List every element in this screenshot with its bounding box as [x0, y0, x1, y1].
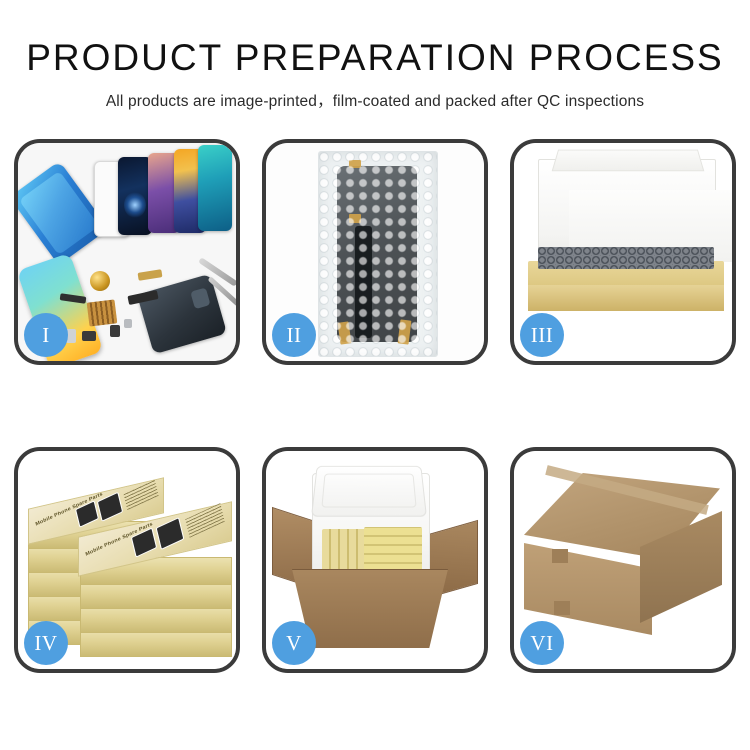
foam-lid-top-edge — [552, 150, 705, 172]
step-card-2[interactable]: II — [262, 139, 488, 365]
process-steps-grid: I II — [14, 139, 736, 673]
step-card-3[interactable]: III — [510, 139, 736, 365]
stacked-box-r3 — [80, 581, 232, 609]
kraft-tray-front — [528, 285, 724, 311]
box-text-lines-front — [185, 503, 225, 538]
page-header: PRODUCT PREPARATION PROCESS All products… — [0, 0, 750, 111]
step-card-6[interactable]: VI — [510, 447, 736, 673]
phone-screen-dark-icon — [118, 157, 152, 235]
step-card-1[interactable]: I — [14, 139, 240, 365]
small-part-icon-3 — [82, 331, 96, 341]
styrofoam-lid-icon — [311, 466, 427, 517]
small-part-icon-4 — [110, 325, 120, 337]
phone-screen-teal-icon — [198, 145, 232, 231]
step-badge-3: III — [520, 313, 564, 357]
page-title: PRODUCT PREPARATION PROCESS — [0, 36, 750, 80]
yellow-boxes-inside-2 — [364, 527, 422, 571]
small-part-icon-5 — [124, 319, 132, 328]
step-card-4[interactable]: Mobile Phone Spare Parts Mobile Phone Sp… — [14, 447, 240, 673]
wrapped-flex-cable-icon — [355, 226, 372, 338]
tape-icon-2 — [349, 214, 361, 223]
step-badge-6: VI — [520, 621, 564, 665]
carton-tape-patch-top — [552, 549, 568, 563]
flex-cable-icon-3 — [138, 269, 163, 281]
stacked-box-r5 — [80, 629, 232, 657]
carton-tape-patch-bottom — [554, 601, 570, 615]
step-badge-4: IV — [24, 621, 68, 665]
speaker-component-icon — [90, 271, 110, 291]
bubble-bag-body — [318, 151, 438, 357]
step-badge-2: II — [272, 313, 316, 357]
carton-body — [292, 569, 448, 648]
stacked-box-r4 — [80, 605, 232, 633]
step-card-5[interactable]: V — [262, 447, 488, 673]
step-badge-5: V — [272, 621, 316, 665]
box-window-front-2 — [156, 517, 185, 550]
chip-component-icon — [87, 299, 118, 326]
wrapped-screen-icon — [337, 166, 417, 342]
box-text-lines-back — [123, 479, 158, 510]
tape-icon-1 — [349, 160, 361, 168]
product-preparation-process-page: PRODUCT PREPARATION PROCESS All products… — [0, 0, 750, 750]
step-badge-1: I — [24, 313, 68, 357]
page-subtitle: All products are image-printed，film-coat… — [0, 89, 750, 111]
